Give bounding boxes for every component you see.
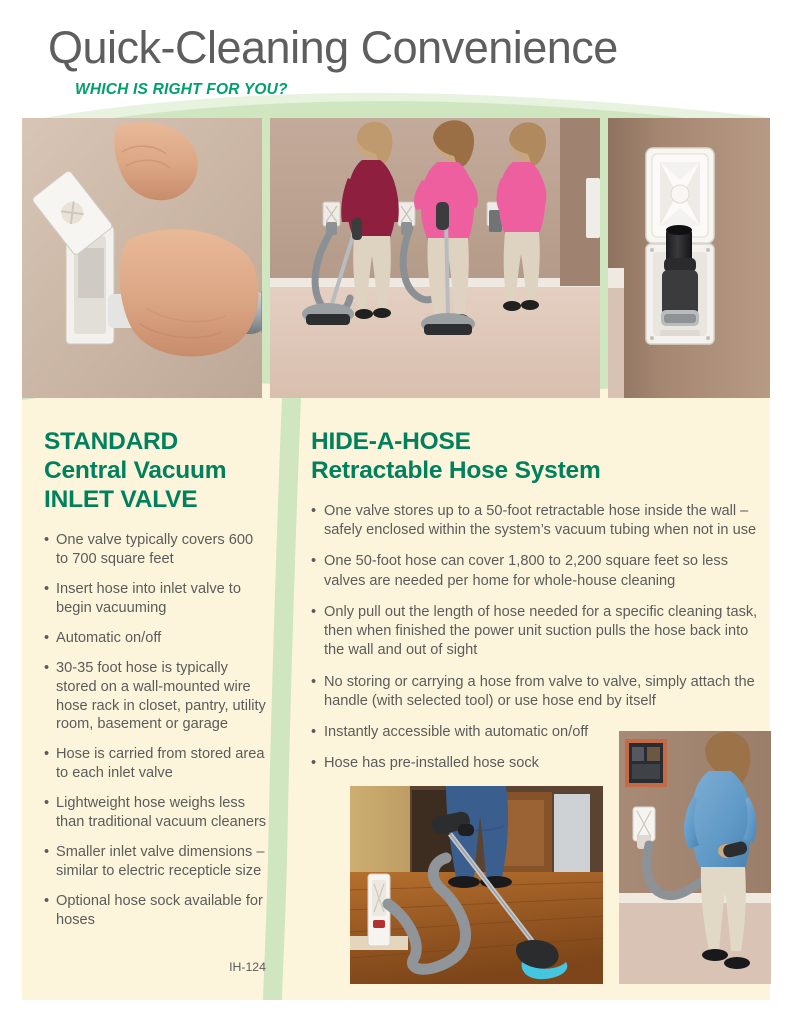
carpet bbox=[619, 903, 771, 984]
column-standard-inlet-valve: STANDARD Central Vacuum INLET VALVE One … bbox=[44, 428, 269, 941]
shoe-left-3 bbox=[503, 301, 521, 311]
photo-three-women-vacuuming bbox=[270, 118, 600, 398]
list-item: Insert hose into inlet valve to begin va… bbox=[44, 580, 269, 618]
valve-opening bbox=[78, 248, 104, 298]
baseboard-corner bbox=[608, 268, 624, 288]
page-subtitle: WHICH IS RIGHT FOR YOU? bbox=[75, 81, 288, 99]
side-valve-plate bbox=[586, 178, 600, 238]
baseboard bbox=[619, 893, 771, 903]
list-item: One valve typically covers 600 to 700 sq… bbox=[44, 531, 269, 569]
standard-column-heading: STANDARD Central Vacuum INLET VALVE bbox=[44, 428, 269, 515]
hand-lower bbox=[119, 229, 258, 356]
hide-a-hose-heading-line-2: Retractable Hose System bbox=[311, 457, 763, 486]
shoe-left bbox=[702, 949, 728, 961]
page-title: Quick-Cleaning Convenience bbox=[48, 22, 618, 74]
photo-woman-blue-sweater-with-hose bbox=[619, 731, 771, 984]
shoe-left bbox=[448, 876, 480, 888]
list-item: Automatic on/off bbox=[44, 629, 269, 648]
wall-inlet-valve bbox=[368, 874, 390, 946]
list-item: Lightweight hose weighs less than tradit… bbox=[44, 794, 269, 832]
list-item: No storing or carrying a hose from valve… bbox=[311, 673, 763, 712]
hero-photo-band bbox=[0, 100, 791, 405]
shoe-right bbox=[373, 308, 391, 318]
shoe-right-3 bbox=[521, 300, 539, 310]
shoe-right bbox=[724, 957, 750, 969]
brochure-page: Quick-Cleaning Convenience WHICH IS RIGH… bbox=[0, 0, 791, 1024]
list-item: One 50-foot hose can cover 1,800 to 2,20… bbox=[311, 552, 763, 591]
appliance bbox=[554, 794, 590, 872]
standard-heading-line-1: STANDARD bbox=[44, 428, 269, 457]
framed-picture bbox=[625, 739, 667, 787]
standard-heading-line-2: Central Vacuum bbox=[44, 457, 269, 486]
standard-bullet-list: One valve typically covers 600 to 700 sq… bbox=[44, 531, 269, 930]
photo-inlet-valve-closeup bbox=[22, 118, 262, 398]
list-item: Optional hose sock available for hoses bbox=[44, 892, 269, 930]
hide-a-hose-column-heading: HIDE-A-HOSE Retractable Hose System bbox=[311, 428, 763, 486]
list-item: Smaller inlet valve dimensions – similar… bbox=[44, 843, 269, 881]
list-item: Only pull out the length of hose needed … bbox=[311, 603, 763, 661]
hide-a-hose-heading-line-1: HIDE-A-HOSE bbox=[311, 428, 763, 457]
photo-hardwood-floor-cleaning bbox=[350, 786, 603, 984]
list-item: One valve stores up to a 50-foot retract… bbox=[311, 502, 763, 541]
photo-hide-a-hose-valve bbox=[608, 118, 770, 398]
list-item: 30-35 foot hose is typically stored on a… bbox=[44, 659, 269, 735]
document-code: IH-124 bbox=[186, 960, 266, 974]
standard-heading-line-3: INLET VALVE bbox=[44, 486, 269, 515]
shoe-left bbox=[355, 309, 373, 319]
page-header: Quick-Cleaning Convenience WHICH IS RIGH… bbox=[0, 0, 791, 108]
carpet-corner bbox=[608, 286, 624, 398]
list-item: Hose is carried from stored area to each… bbox=[44, 745, 269, 783]
